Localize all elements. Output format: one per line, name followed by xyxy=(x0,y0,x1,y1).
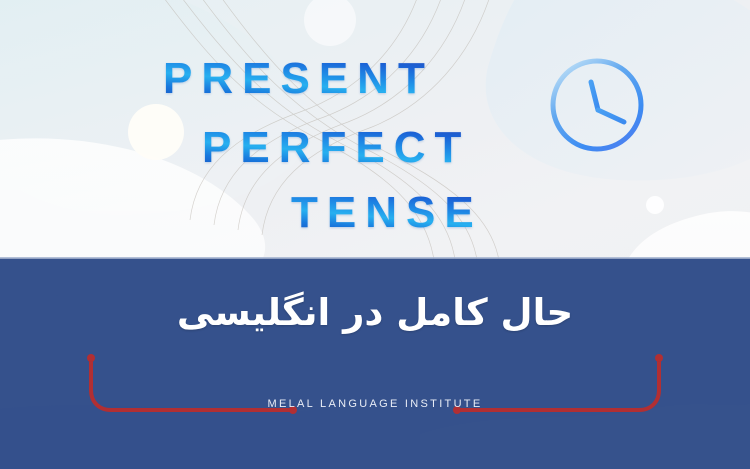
slide-canvas: PRESENT PERFECT TENSE xyxy=(0,0,750,469)
persian-title: حال کامل در انگلیسی xyxy=(0,292,750,335)
clock-icon xyxy=(546,54,648,156)
bracket-dot-left xyxy=(87,354,95,362)
institute-name: MELAL LANGUAGE INSTITUTE xyxy=(0,398,750,410)
title-line-perfect: PERFECT xyxy=(202,126,470,170)
title-line-tense: TENSE xyxy=(291,191,483,235)
title-line-present: PRESENT xyxy=(163,57,434,101)
top-light-panel: PRESENT PERFECT TENSE xyxy=(0,0,750,259)
bracket-dot-right xyxy=(655,354,663,362)
